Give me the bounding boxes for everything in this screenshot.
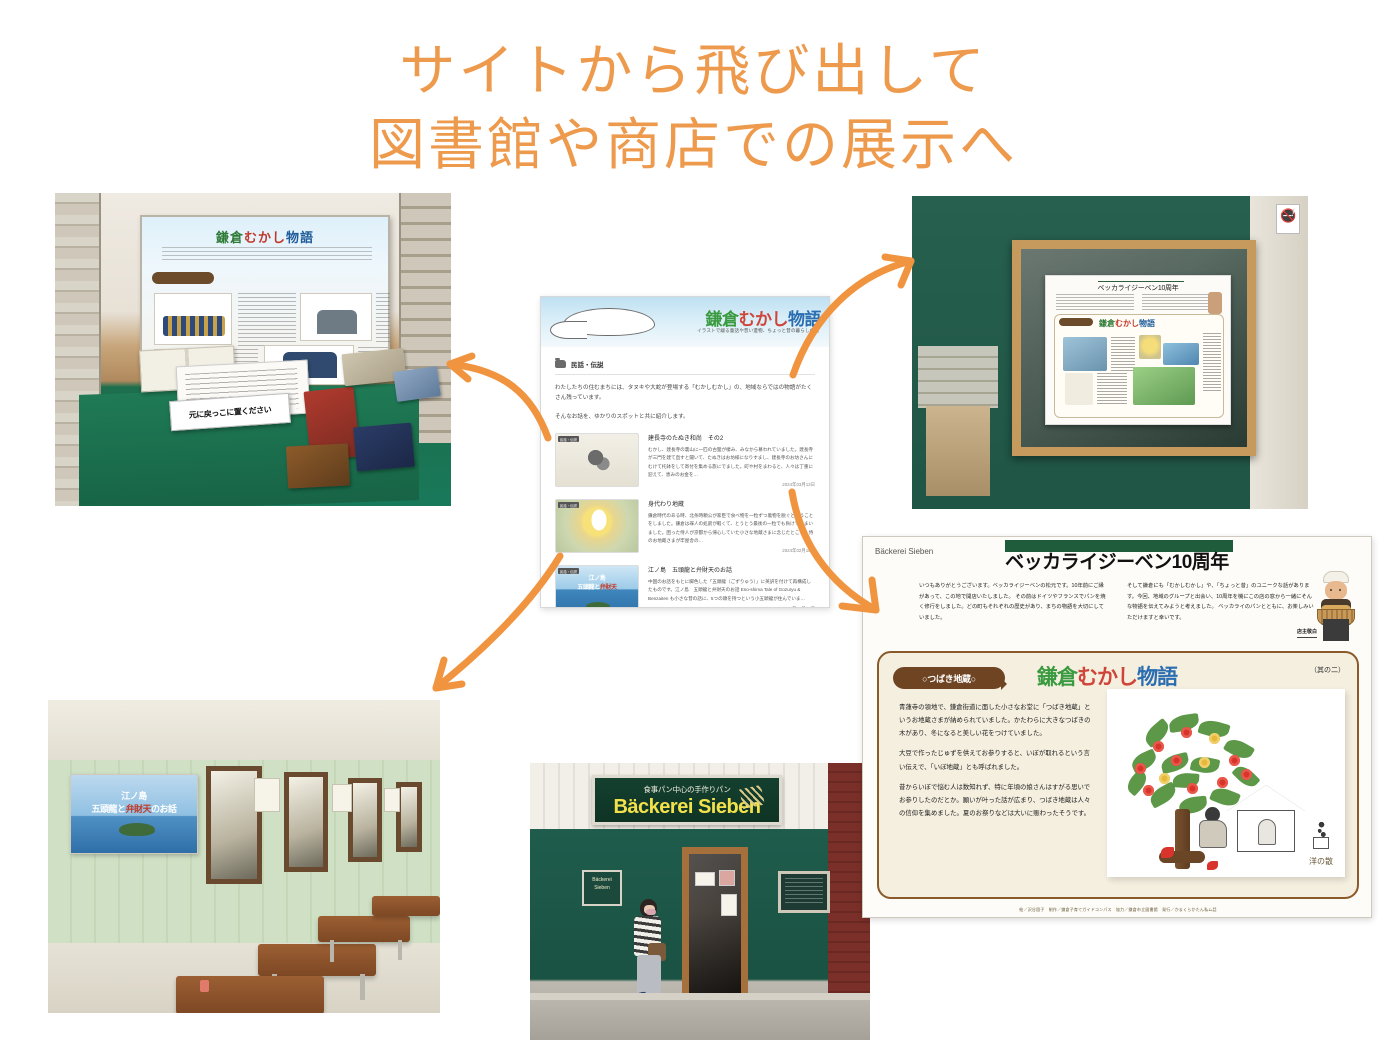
page-title: サイトから飛び出して 図書館や商店での展示へ xyxy=(0,34,1387,183)
board-text-1 xyxy=(238,293,296,349)
article-date: 2024年03月13日 xyxy=(648,482,815,488)
poster-img-3 xyxy=(1163,343,1199,365)
road xyxy=(530,1000,870,1040)
cloud-illustration xyxy=(563,308,655,336)
poster-intro-right-wrap: そして鎌倉にも「むかしむかし」や、「ちょっと昔」のユニークな話があります。今回、… xyxy=(1127,581,1317,638)
board-title: 鎌倉むかし物語 xyxy=(142,227,388,246)
poster-credits: 絵／沢谷園子 制作／鎌倉子育てガイドコンパス 協力／鎌倉市立図書館 発行／かまく… xyxy=(877,907,1359,913)
shop-sign: 食事パン中心の手作りパン Bäckerei Sieben xyxy=(592,775,782,825)
bench-4 xyxy=(176,976,324,1013)
thumb-line-1: 江ノ島 xyxy=(589,576,606,582)
article-list-item[interactable]: 民話・伝説 江ノ島 五頭龍と弁財天 江ノ島 五頭龍と弁財天のお話 中国のお話をも… xyxy=(555,565,815,608)
site-tagline: イラストで綴る童話や昔い遺物、ちょっと昔の暮らしの話 xyxy=(697,328,819,334)
folder-icon xyxy=(555,360,566,368)
window-poster-header: ベッカライジーベン10周年 xyxy=(1046,283,1230,293)
fallen-flower-2 xyxy=(1207,861,1218,870)
logo-g: 鎌倉 xyxy=(1099,319,1115,328)
baker-face xyxy=(1325,581,1347,600)
story-logo: 鎌倉むかし物語 xyxy=(1037,661,1177,691)
poster-text-1 xyxy=(1111,337,1135,371)
book-3 xyxy=(286,443,350,488)
baker-eye-left xyxy=(1330,589,1332,591)
poster-story-card: 鎌倉むかし物語 xyxy=(1054,314,1224,418)
wall-poster-3 xyxy=(332,784,352,812)
story-ribbon: ○つばき地蔵○ xyxy=(893,667,1005,689)
cup-object xyxy=(200,980,209,992)
article-badge: 民話・伝説 xyxy=(558,436,579,442)
shop-door xyxy=(682,847,748,1005)
article-body: 建長寺のたぬき和尚 その2 むかし、建長寺の裏山に一匹の古狸が棲み、みなから慕わ… xyxy=(648,433,815,488)
poster-text-2 xyxy=(1203,333,1221,393)
artist-signature: 洋の散 xyxy=(1309,856,1333,867)
category-row[interactable]: 民話・伝説 xyxy=(555,359,815,375)
poster-intro-right: そして鎌倉にも「むかしむかし」や、「ちょっと昔」のユニークな話があります。今回、… xyxy=(1127,581,1317,623)
poster-img-5 xyxy=(1133,367,1195,405)
logo-b: 物語 xyxy=(1139,319,1155,328)
thumb-line-2c: 弁財天 xyxy=(600,585,617,591)
article-body: 身代わり地蔵 鎌倉時代のある時、北条時頼公が家臣で食べ物を一粒ずつ着物を脱ぐとい… xyxy=(648,499,815,554)
poster-text-3 xyxy=(1097,373,1127,405)
article-list-item[interactable]: 民話・伝説 建長寺のたぬき和尚 その2 むかし、建長寺の裏山に一匹の古狸が棲み、… xyxy=(555,433,815,488)
worshipper-figure xyxy=(1199,807,1229,849)
poster-top-bar xyxy=(1098,281,1184,282)
board-text-2 xyxy=(376,293,390,345)
bench-1 xyxy=(258,944,376,976)
baker-apron xyxy=(1323,619,1349,641)
story-paragraph-1: 青蓮寺の領地で、鎌倉街道に面した小さなお堂に「つばき地蔵」というお地蔵さまが納め… xyxy=(899,701,1091,740)
jizo-shrine xyxy=(1227,785,1305,853)
wall-poster-2 xyxy=(254,778,280,812)
article-excerpt: 中国のお話をもとに脚色した「五頭龍（ごずりゅう）」に英訳を付けて再構成したもので… xyxy=(648,578,815,603)
thumb-island xyxy=(586,602,610,608)
website-screenshot[interactable]: 鎌倉むかし物語 イラストで綴る童話や昔い遺物、ちょっと昔の暮らしの話 民話・伝説… xyxy=(540,296,830,608)
board-title-part-1: 鎌倉 xyxy=(216,230,244,245)
ceiling xyxy=(48,700,440,762)
poster-line-2a: 五頭龍 xyxy=(91,804,117,814)
board-illustration-2 xyxy=(300,293,372,341)
window-poster-logo: 鎌倉むかし物語 xyxy=(1099,318,1155,329)
photo-window-display: ベッカライジーベン10周年 鎌倉むかし物語 xyxy=(912,196,1308,509)
category-label[interactable]: 民話・伝説 xyxy=(571,359,604,369)
potted-plant xyxy=(1311,821,1331,849)
story-logo-part-1: 鎌倉 xyxy=(1037,666,1077,689)
article-thumbnail[interactable]: 民話・伝説 江ノ島 五頭龍と弁財天 xyxy=(555,565,639,608)
island-illustration xyxy=(119,823,155,836)
wall-right xyxy=(1250,196,1308,509)
article-excerpt: むかし、建長寺の裏山に一匹の古狸が棲み、みなから慕われていました。建長寺が三門を… xyxy=(648,446,815,479)
door-notice-3 xyxy=(721,894,737,916)
board-subtitle-lines xyxy=(162,247,372,263)
article-thumbnail[interactable]: 民話・伝説 xyxy=(555,433,639,487)
bakery-anniversary-poster: Bäckerei Sieben ベッカライジーベン10周年 いつもありがとうござ… xyxy=(862,536,1372,918)
shrine-body xyxy=(1237,810,1295,852)
shopfront-scene: ベッカライジーベン10周年 鎌倉むかし物語 xyxy=(912,196,1308,509)
story-text: 青蓮寺の領地で、鎌倉街道に面した小さなお堂に「つばき地蔵」というお地蔵さまが納め… xyxy=(899,701,1091,827)
article-title[interactable]: 建長寺のたぬき和尚 その2 xyxy=(648,433,815,442)
intro-paragraph-1: わたしたちの住むまちには、タヌキや大蛇が登場する「むかしむかし」の、地域ならでは… xyxy=(555,383,815,404)
story-card: ○つばき地蔵○ 鎌倉むかし物語 （其の二） 青蓮寺の領地で、鎌倉街道に面した小さ… xyxy=(877,651,1359,899)
slide-canvas: サイトから飛び出して 図書館や商店での展示へ 鎌倉むかし物語 xyxy=(0,0,1387,1040)
person-mask xyxy=(646,909,656,915)
baker-icon xyxy=(1313,571,1359,647)
library-scene: 鎌倉むかし物語 xyxy=(55,193,451,506)
corridor-poster-enoshima: 江ノ島 五頭龍と弁財天のお話 xyxy=(70,774,198,854)
poster-headline: ベッカライジーベン10周年 xyxy=(863,547,1371,574)
window-frame: ベッカライジーベン10周年 鎌倉むかし物語 xyxy=(1012,240,1256,456)
bench-2-leg-b xyxy=(398,940,402,960)
wall-poster-4 xyxy=(384,788,400,812)
board-title-part-4: 物語 xyxy=(286,230,314,245)
site-logo-part-2: むかし xyxy=(739,310,789,329)
story-ribbon-label: ○つばき地蔵○ xyxy=(893,667,1005,685)
poster-intro-left: いつもありがとうございます。ベッカライジーベンの松元です。10年前にご縁があって… xyxy=(919,581,1109,638)
door-notice-1 xyxy=(695,872,715,886)
story-number: （其の二） xyxy=(1310,665,1345,675)
article-title[interactable]: 江ノ島 五頭龍と弁財天のお話 xyxy=(648,565,815,574)
article-badge: 民話・伝説 xyxy=(558,502,579,508)
article-date: 2024年02月16日 xyxy=(648,548,815,554)
poster-ribbon xyxy=(1059,318,1093,326)
tree-trunk xyxy=(1175,809,1190,869)
fallen-flower-1 xyxy=(1161,847,1174,858)
pedestrian xyxy=(626,899,670,1007)
flower-pot xyxy=(1313,837,1329,849)
bakery-scene: 食事パン中心の手作りパン Bäckerei Sieben Bäckerei Si… xyxy=(530,763,870,1040)
article-thumbnail[interactable]: 民話・伝説 xyxy=(555,499,639,553)
site-logo-part-3: 物語 xyxy=(788,310,821,329)
poster-img-2 xyxy=(1139,335,1161,359)
interior-shelf xyxy=(918,346,998,408)
article-body: 江ノ島 五頭龍と弁財天のお話 中国のお話をもとに脚色した「五頭龍（ごずりゅう）」… xyxy=(648,565,815,608)
board-illustration-1 xyxy=(154,293,232,345)
site-header: 鎌倉むかし物語 イラストで綴る童話や昔い遺物、ちょっと昔の暮らしの話 xyxy=(541,297,829,347)
baker-eye-right xyxy=(1339,589,1341,591)
corridor-poster-title: 江ノ島 五頭龍と弁財天のお話 xyxy=(71,789,197,815)
poster-line-2d: のお話 xyxy=(151,804,177,814)
story-paragraph-2: 大豆で作ったじゅずを供えてお参りすると、いぼが取れるという言い伝えで、「いぼ地蔵… xyxy=(899,747,1091,773)
site-logo: 鎌倉むかし物語 xyxy=(706,305,822,330)
side-sign: Bäckerei Sieben xyxy=(582,870,622,906)
article-list-item[interactable]: 民話・伝説 身代わり地蔵 鎌倉時代のある時、北条時頼公が家臣で食べ物を一粒ずつ着… xyxy=(555,499,815,554)
no-smoking-icon xyxy=(1276,204,1300,234)
poster-line-2c: 弁財天 xyxy=(126,804,152,814)
bench-2 xyxy=(318,916,410,942)
article-badge: 民話・伝説 xyxy=(558,568,579,574)
window-3 xyxy=(348,778,382,862)
poster-img-4 xyxy=(1065,373,1093,405)
article-title[interactable]: 身代わり地蔵 xyxy=(648,499,815,508)
poster-line-2b: と xyxy=(117,804,126,814)
door-notice-2 xyxy=(719,870,735,886)
person-legs xyxy=(637,955,661,995)
intro-paragraph-2: そんなお話を、ゆかりのスポットと共に紹介します。 xyxy=(555,412,815,422)
corridor-scene: 江ノ島 五頭龍と弁財天のお話 xyxy=(48,700,440,1013)
shrine-roof xyxy=(1227,785,1305,811)
article-excerpt: 鎌倉時代のある時、北条時頼公が家臣で食べ物を一粒ずつ着物を脱ぐということをしまし… xyxy=(648,512,815,545)
jizo-statue xyxy=(1258,819,1276,845)
menu-board xyxy=(778,871,830,913)
poster-baker-icon xyxy=(1208,292,1222,314)
poster-line-1: 江ノ島 xyxy=(121,791,147,801)
side-sign-text: Bäckerei Sieben xyxy=(584,872,620,892)
story-logo-part-2: むかし xyxy=(1077,666,1137,689)
site-content: 民話・伝説 わたしたちの住むまちには、タヌキや大蛇が登場する「むかしむかし」の、… xyxy=(541,347,829,608)
book-2 xyxy=(353,423,415,472)
story-logo-part-3: 物語 xyxy=(1137,666,1177,689)
board-title-part-2: むかし xyxy=(244,230,286,245)
book-5 xyxy=(393,366,441,402)
library-display-board: 鎌倉むかし物語 xyxy=(140,215,390,365)
bench-3 xyxy=(372,896,440,916)
curb xyxy=(530,993,870,1000)
bench-2-leg-a xyxy=(330,940,334,962)
poster-intro-columns: いつもありがとうございます。ベッカライジーベンの松元です。10年前にご縁があって… xyxy=(919,581,1317,638)
figure-body xyxy=(1199,820,1227,848)
site-logo-part-1: 鎌倉 xyxy=(706,310,739,329)
photo-library-display: 鎌倉むかし物語 xyxy=(55,193,451,506)
bench-1-leg-b xyxy=(360,974,365,1000)
photo-corridor-display: 江ノ島 五頭龍と弁財天のお話 xyxy=(48,700,440,1013)
poster-img-1 xyxy=(1063,337,1107,371)
photo-bakery-storefront: 食事パン中心の手作りパン Bäckerei Sieben Bäckerei Si… xyxy=(530,763,870,1040)
thumbnail-title: 江ノ島 五頭龍と弁財天 xyxy=(556,573,638,591)
thumb-line-2a: 五頭龍 xyxy=(577,585,594,591)
interior-chair xyxy=(926,406,990,496)
article-date: 2023年12月26日 xyxy=(648,606,815,608)
board-section-tag xyxy=(152,272,214,284)
camellia-illustration: 洋の散 xyxy=(1107,689,1345,877)
story-paragraph-3: 昔からいぼで悩む人は数知れず、特に年頃の娘さんはすがる思いでお参りしたのだとか。… xyxy=(899,781,1091,820)
window-poster: ベッカライジーベン10周年 鎌倉むかし物語 xyxy=(1045,275,1231,425)
logo-r: むかし xyxy=(1115,319,1139,328)
window-2 xyxy=(284,772,328,872)
